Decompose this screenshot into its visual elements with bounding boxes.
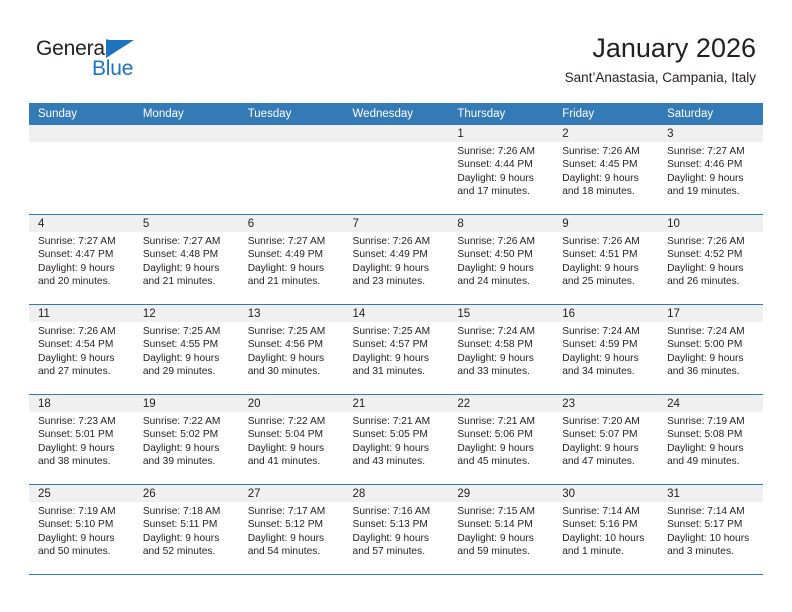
daylight-duration-line2: and 20 minutes. [38,275,128,288]
calendar-cell-day[interactable]: 11Sunrise: 7:26 AMSunset: 4:54 PMDayligh… [29,305,134,395]
day-number: 22 [448,395,553,412]
sunset-time: Sunset: 5:14 PM [457,518,547,531]
day-box: 13Sunrise: 7:25 AMSunset: 4:56 PMDayligh… [239,305,344,394]
daylight-duration-line1: Daylight: 9 hours [667,262,757,275]
day-number: 12 [134,305,239,322]
day-number: 27 [239,485,344,502]
calendar-cell-day[interactable]: 14Sunrise: 7:25 AMSunset: 4:57 PMDayligh… [344,305,449,395]
day-box: 4Sunrise: 7:27 AMSunset: 4:47 PMDaylight… [29,215,134,304]
day-box: 22Sunrise: 7:21 AMSunset: 5:06 PMDayligh… [448,395,553,484]
sunset-time: Sunset: 4:57 PM [353,338,443,351]
day-box: 6Sunrise: 7:27 AMSunset: 4:49 PMDaylight… [239,215,344,304]
day-box: 27Sunrise: 7:17 AMSunset: 5:12 PMDayligh… [239,485,344,574]
day-details: Sunrise: 7:25 AMSunset: 4:57 PMDaylight:… [344,322,449,378]
weekday-header-tuesday: Tuesday [239,103,344,125]
sunrise-time: Sunrise: 7:21 AM [353,415,443,428]
calendar-cell-day[interactable]: 4Sunrise: 7:27 AMSunset: 4:47 PMDaylight… [29,215,134,305]
day-number: 28 [344,485,449,502]
daylight-duration-line1: Daylight: 9 hours [38,352,128,365]
sunrise-time: Sunrise: 7:26 AM [353,235,443,248]
sunrise-time: Sunrise: 7:20 AM [562,415,652,428]
sunset-time: Sunset: 5:13 PM [353,518,443,531]
daylight-duration-line2: and 41 minutes. [248,455,338,468]
sunrise-time: Sunrise: 7:22 AM [143,415,233,428]
sunrise-time: Sunrise: 7:26 AM [38,325,128,338]
calendar-cell-day[interactable]: 9Sunrise: 7:26 AMSunset: 4:51 PMDaylight… [553,215,658,305]
calendar-cell-day[interactable]: 2Sunrise: 7:26 AMSunset: 4:45 PMDaylight… [553,125,658,215]
day-box: 19Sunrise: 7:22 AMSunset: 5:02 PMDayligh… [134,395,239,484]
day-box: 10Sunrise: 7:26 AMSunset: 4:52 PMDayligh… [658,215,763,304]
weekday-header-wednesday: Wednesday [344,103,449,125]
daylight-duration-line2: and 36 minutes. [667,365,757,378]
calendar-cell-day[interactable]: 3Sunrise: 7:27 AMSunset: 4:46 PMDaylight… [658,125,763,215]
day-details: Sunrise: 7:25 AMSunset: 4:56 PMDaylight:… [239,322,344,378]
daylight-duration-line2: and 23 minutes. [353,275,443,288]
day-box: 8Sunrise: 7:26 AMSunset: 4:50 PMDaylight… [448,215,553,304]
sunrise-time: Sunrise: 7:23 AM [38,415,128,428]
sunset-time: Sunset: 5:10 PM [38,518,128,531]
day-box: 24Sunrise: 7:19 AMSunset: 5:08 PMDayligh… [658,395,763,484]
sunrise-time: Sunrise: 7:24 AM [562,325,652,338]
day-details: Sunrise: 7:27 AMSunset: 4:49 PMDaylight:… [239,232,344,288]
day-number: 4 [29,215,134,232]
day-box: 20Sunrise: 7:22 AMSunset: 5:04 PMDayligh… [239,395,344,484]
daylight-duration-line2: and 27 minutes. [38,365,128,378]
sunrise-time: Sunrise: 7:19 AM [38,505,128,518]
daylight-duration-line2: and 25 minutes. [562,275,652,288]
sunrise-time: Sunrise: 7:24 AM [457,325,547,338]
title-block: January 2026 Sant’Anastasia, Campania, I… [565,32,756,87]
day-number [344,125,449,142]
sunset-time: Sunset: 5:01 PM [38,428,128,441]
sunrise-time: Sunrise: 7:22 AM [248,415,338,428]
calendar-cell-day[interactable]: 6Sunrise: 7:27 AMSunset: 4:49 PMDaylight… [239,215,344,305]
sunrise-time: Sunrise: 7:17 AM [248,505,338,518]
daylight-duration-line2: and 30 minutes. [248,365,338,378]
daylight-duration-line2: and 3 minutes. [667,545,757,558]
day-box: 30Sunrise: 7:14 AMSunset: 5:16 PMDayligh… [553,485,658,574]
day-number: 26 [134,485,239,502]
day-box: 3Sunrise: 7:27 AMSunset: 4:46 PMDaylight… [658,125,763,214]
day-number: 16 [553,305,658,322]
day-details: Sunrise: 7:24 AMSunset: 4:59 PMDaylight:… [553,322,658,378]
day-number: 24 [658,395,763,412]
daylight-duration-line2: and 49 minutes. [667,455,757,468]
day-number: 8 [448,215,553,232]
day-details: Sunrise: 7:26 AMSunset: 4:52 PMDaylight:… [658,232,763,288]
day-details: Sunrise: 7:18 AMSunset: 5:11 PMDaylight:… [134,502,239,558]
sunrise-time: Sunrise: 7:14 AM [562,505,652,518]
calendar-cell-day[interactable]: 19Sunrise: 7:22 AMSunset: 5:02 PMDayligh… [134,395,239,485]
day-details: Sunrise: 7:19 AMSunset: 5:10 PMDaylight:… [29,502,134,558]
daylight-duration-line2: and 38 minutes. [38,455,128,468]
calendar-cell-day[interactable]: 29Sunrise: 7:15 AMSunset: 5:14 PMDayligh… [448,485,553,575]
calendar-page: General Blue January 2026 Sant’Anastasia… [0,0,792,612]
daylight-duration-line1: Daylight: 9 hours [38,262,128,275]
weekday-header-friday: Friday [553,103,658,125]
day-details: Sunrise: 7:23 AMSunset: 5:01 PMDaylight:… [29,412,134,468]
daylight-duration-line1: Daylight: 9 hours [562,442,652,455]
sunset-time: Sunset: 5:00 PM [667,338,757,351]
day-number: 30 [553,485,658,502]
page-header: General Blue January 2026 Sant’Anastasia… [0,0,792,103]
calendar-header-row: Sunday Monday Tuesday Wednesday Thursday… [29,103,763,125]
day-box: 25Sunrise: 7:19 AMSunset: 5:10 PMDayligh… [29,485,134,574]
sunset-time: Sunset: 5:06 PM [457,428,547,441]
day-details: Sunrise: 7:27 AMSunset: 4:46 PMDaylight:… [658,142,763,198]
day-number: 1 [448,125,553,142]
day-box: 31Sunrise: 7:14 AMSunset: 5:17 PMDayligh… [658,485,763,574]
sunrise-time: Sunrise: 7:14 AM [667,505,757,518]
sunrise-time: Sunrise: 7:27 AM [143,235,233,248]
calendar-week-row: 1Sunrise: 7:26 AMSunset: 4:44 PMDaylight… [29,125,763,215]
sunset-time: Sunset: 4:55 PM [143,338,233,351]
calendar-body: 1Sunrise: 7:26 AMSunset: 4:44 PMDaylight… [29,125,763,575]
calendar-cell-day[interactable]: 12Sunrise: 7:25 AMSunset: 4:55 PMDayligh… [134,305,239,395]
sunrise-time: Sunrise: 7:26 AM [457,235,547,248]
day-details: Sunrise: 7:24 AMSunset: 4:58 PMDaylight:… [448,322,553,378]
sunset-time: Sunset: 5:11 PM [143,518,233,531]
day-details: Sunrise: 7:21 AMSunset: 5:05 PMDaylight:… [344,412,449,468]
calendar-week-row: 11Sunrise: 7:26 AMSunset: 4:54 PMDayligh… [29,305,763,395]
daylight-duration-line1: Daylight: 9 hours [353,262,443,275]
weekday-header-saturday: Saturday [658,103,763,125]
calendar-grid: Sunday Monday Tuesday Wednesday Thursday… [29,103,763,575]
day-number: 23 [553,395,658,412]
sunset-time: Sunset: 4:45 PM [562,158,652,171]
day-box: 15Sunrise: 7:24 AMSunset: 4:58 PMDayligh… [448,305,553,394]
daylight-duration-line2: and 57 minutes. [353,545,443,558]
daylight-duration-line1: Daylight: 9 hours [248,352,338,365]
calendar-cell-day[interactable]: 31Sunrise: 7:14 AMSunset: 5:17 PMDayligh… [658,485,763,575]
sunset-time: Sunset: 4:49 PM [353,248,443,261]
daylight-duration-line2: and 50 minutes. [38,545,128,558]
sunset-time: Sunset: 4:54 PM [38,338,128,351]
calendar-cell-day[interactable]: 15Sunrise: 7:24 AMSunset: 4:58 PMDayligh… [448,305,553,395]
day-number: 3 [658,125,763,142]
daylight-duration-line2: and 29 minutes. [143,365,233,378]
calendar-cell-day[interactable]: 28Sunrise: 7:16 AMSunset: 5:13 PMDayligh… [344,485,449,575]
calendar-cell-empty [239,125,344,215]
day-number: 18 [29,395,134,412]
day-number: 20 [239,395,344,412]
sunset-time: Sunset: 5:05 PM [353,428,443,441]
daylight-duration-line1: Daylight: 9 hours [143,442,233,455]
day-number: 29 [448,485,553,502]
day-number: 10 [658,215,763,232]
day-details: Sunrise: 7:19 AMSunset: 5:08 PMDaylight:… [658,412,763,468]
calendar-cell-day[interactable]: 13Sunrise: 7:25 AMSunset: 4:56 PMDayligh… [239,305,344,395]
sunset-time: Sunset: 4:44 PM [457,158,547,171]
calendar-cell-day[interactable]: 27Sunrise: 7:17 AMSunset: 5:12 PMDayligh… [239,485,344,575]
sunrise-time: Sunrise: 7:19 AM [667,415,757,428]
weekday-header-sunday: Sunday [29,103,134,125]
sunrise-time: Sunrise: 7:26 AM [667,235,757,248]
day-number: 21 [344,395,449,412]
daylight-duration-line2: and 1 minute. [562,545,652,558]
page-subtitle: Sant’Anastasia, Campania, Italy [565,69,756,87]
day-details: Sunrise: 7:27 AMSunset: 4:48 PMDaylight:… [134,232,239,288]
daylight-duration-line1: Daylight: 9 hours [562,172,652,185]
day-box: 12Sunrise: 7:25 AMSunset: 4:55 PMDayligh… [134,305,239,394]
calendar-cell-day[interactable]: 10Sunrise: 7:26 AMSunset: 4:52 PMDayligh… [658,215,763,305]
blue-triangle-icon [106,40,134,58]
daylight-duration-line1: Daylight: 10 hours [562,532,652,545]
day-number: 6 [239,215,344,232]
day-details: Sunrise: 7:22 AMSunset: 5:04 PMDaylight:… [239,412,344,468]
daylight-duration-line2: and 52 minutes. [143,545,233,558]
sunset-time: Sunset: 4:46 PM [667,158,757,171]
calendar-cell-day[interactable]: 7Sunrise: 7:26 AMSunset: 4:49 PMDaylight… [344,215,449,305]
daylight-duration-line1: Daylight: 9 hours [143,532,233,545]
daylight-duration-line2: and 39 minutes. [143,455,233,468]
daylight-duration-line1: Daylight: 9 hours [143,262,233,275]
sunrise-time: Sunrise: 7:21 AM [457,415,547,428]
day-box: 26Sunrise: 7:18 AMSunset: 5:11 PMDayligh… [134,485,239,574]
calendar-cell-day[interactable]: 26Sunrise: 7:18 AMSunset: 5:11 PMDayligh… [134,485,239,575]
calendar-cell-day[interactable]: 20Sunrise: 7:22 AMSunset: 5:04 PMDayligh… [239,395,344,485]
calendar-cell-day[interactable]: 24Sunrise: 7:19 AMSunset: 5:08 PMDayligh… [658,395,763,485]
day-box: 2Sunrise: 7:26 AMSunset: 4:45 PMDaylight… [553,125,658,214]
day-box: 16Sunrise: 7:24 AMSunset: 4:59 PMDayligh… [553,305,658,394]
sunrise-time: Sunrise: 7:27 AM [38,235,128,248]
sunset-time: Sunset: 4:58 PM [457,338,547,351]
day-details: Sunrise: 7:26 AMSunset: 4:45 PMDaylight:… [553,142,658,198]
day-number: 9 [553,215,658,232]
day-number [134,125,239,142]
sunset-time: Sunset: 4:52 PM [667,248,757,261]
day-box [29,125,134,214]
day-number: 19 [134,395,239,412]
daylight-duration-line1: Daylight: 9 hours [667,352,757,365]
daylight-duration-line1: Daylight: 9 hours [353,442,443,455]
sunrise-time: Sunrise: 7:16 AM [353,505,443,518]
day-box: 9Sunrise: 7:26 AMSunset: 4:51 PMDaylight… [553,215,658,304]
day-number: 2 [553,125,658,142]
sunset-time: Sunset: 5:04 PM [248,428,338,441]
calendar-cell-day[interactable]: 22Sunrise: 7:21 AMSunset: 5:06 PMDayligh… [448,395,553,485]
day-box: 21Sunrise: 7:21 AMSunset: 5:05 PMDayligh… [344,395,449,484]
day-details: Sunrise: 7:26 AMSunset: 4:49 PMDaylight:… [344,232,449,288]
calendar-cell-day[interactable]: 18Sunrise: 7:23 AMSunset: 5:01 PMDayligh… [29,395,134,485]
calendar-cell-empty [29,125,134,215]
sunrise-time: Sunrise: 7:26 AM [457,145,547,158]
day-details: Sunrise: 7:21 AMSunset: 5:06 PMDaylight:… [448,412,553,468]
sunset-time: Sunset: 4:50 PM [457,248,547,261]
daylight-duration-line1: Daylight: 9 hours [562,352,652,365]
sunset-time: Sunset: 4:59 PM [562,338,652,351]
day-number: 15 [448,305,553,322]
sunrise-time: Sunrise: 7:18 AM [143,505,233,518]
day-number: 14 [344,305,449,322]
sunrise-time: Sunrise: 7:25 AM [353,325,443,338]
day-details: Sunrise: 7:25 AMSunset: 4:55 PMDaylight:… [134,322,239,378]
day-details: Sunrise: 7:16 AMSunset: 5:13 PMDaylight:… [344,502,449,558]
day-number: 31 [658,485,763,502]
calendar-cell-day[interactable]: 8Sunrise: 7:26 AMSunset: 4:50 PMDaylight… [448,215,553,305]
daylight-duration-line2: and 26 minutes. [667,275,757,288]
calendar-cell-day[interactable]: 17Sunrise: 7:24 AMSunset: 5:00 PMDayligh… [658,305,763,395]
day-details: Sunrise: 7:14 AMSunset: 5:17 PMDaylight:… [658,502,763,558]
daylight-duration-line1: Daylight: 9 hours [248,262,338,275]
calendar-cell-day[interactable]: 16Sunrise: 7:24 AMSunset: 4:59 PMDayligh… [553,305,658,395]
sunset-time: Sunset: 5:16 PM [562,518,652,531]
general-blue-logo[interactable]: General Blue [36,37,166,85]
daylight-duration-line2: and 47 minutes. [562,455,652,468]
sunrise-time: Sunrise: 7:25 AM [248,325,338,338]
day-box: 5Sunrise: 7:27 AMSunset: 4:48 PMDaylight… [134,215,239,304]
day-box: 11Sunrise: 7:26 AMSunset: 4:54 PMDayligh… [29,305,134,394]
day-number: 11 [29,305,134,322]
calendar-cell-day[interactable]: 1Sunrise: 7:26 AMSunset: 4:44 PMDaylight… [448,125,553,215]
daylight-duration-line1: Daylight: 9 hours [457,172,547,185]
day-details: Sunrise: 7:24 AMSunset: 5:00 PMDaylight:… [658,322,763,378]
daylight-duration-line1: Daylight: 9 hours [248,442,338,455]
daylight-duration-line2: and 24 minutes. [457,275,547,288]
daylight-duration-line2: and 17 minutes. [457,185,547,198]
sunrise-time: Sunrise: 7:26 AM [562,235,652,248]
logo-text-blue: Blue [92,57,133,81]
daylight-duration-line2: and 59 minutes. [457,545,547,558]
day-box [239,125,344,214]
day-box [344,125,449,214]
day-box: 1Sunrise: 7:26 AMSunset: 4:44 PMDaylight… [448,125,553,214]
weekday-header-thursday: Thursday [448,103,553,125]
daylight-duration-line1: Daylight: 9 hours [457,532,547,545]
daylight-duration-line1: Daylight: 9 hours [457,262,547,275]
daylight-duration-line1: Daylight: 9 hours [143,352,233,365]
calendar-cell-day[interactable]: 21Sunrise: 7:21 AMSunset: 5:05 PMDayligh… [344,395,449,485]
day-details: Sunrise: 7:26 AMSunset: 4:51 PMDaylight:… [553,232,658,288]
sunrise-time: Sunrise: 7:15 AM [457,505,547,518]
daylight-duration-line1: Daylight: 9 hours [38,532,128,545]
day-details: Sunrise: 7:14 AMSunset: 5:16 PMDaylight:… [553,502,658,558]
daylight-duration-line2: and 21 minutes. [143,275,233,288]
day-box: 7Sunrise: 7:26 AMSunset: 4:49 PMDaylight… [344,215,449,304]
page-title: January 2026 [565,32,756,64]
sunset-time: Sunset: 4:49 PM [248,248,338,261]
daylight-duration-line2: and 45 minutes. [457,455,547,468]
day-number: 5 [134,215,239,232]
daylight-duration-line2: and 54 minutes. [248,545,338,558]
daylight-duration-line2: and 43 minutes. [353,455,443,468]
daylight-duration-line2: and 34 minutes. [562,365,652,378]
calendar-cell-day[interactable]: 30Sunrise: 7:14 AMSunset: 5:16 PMDayligh… [553,485,658,575]
sunrise-time: Sunrise: 7:25 AM [143,325,233,338]
daylight-duration-line2: and 33 minutes. [457,365,547,378]
day-details: Sunrise: 7:26 AMSunset: 4:50 PMDaylight:… [448,232,553,288]
day-details: Sunrise: 7:17 AMSunset: 5:12 PMDaylight:… [239,502,344,558]
sunrise-time: Sunrise: 7:27 AM [667,145,757,158]
calendar-week-row: 18Sunrise: 7:23 AMSunset: 5:01 PMDayligh… [29,395,763,485]
daylight-duration-line1: Daylight: 9 hours [457,352,547,365]
sunrise-time: Sunrise: 7:24 AM [667,325,757,338]
day-number [239,125,344,142]
sunset-time: Sunset: 5:08 PM [667,428,757,441]
sunset-time: Sunset: 5:02 PM [143,428,233,441]
day-details: Sunrise: 7:22 AMSunset: 5:02 PMDaylight:… [134,412,239,468]
calendar-cell-day[interactable]: 23Sunrise: 7:20 AMSunset: 5:07 PMDayligh… [553,395,658,485]
daylight-duration-line2: and 31 minutes. [353,365,443,378]
calendar-week-row: 25Sunrise: 7:19 AMSunset: 5:10 PMDayligh… [29,485,763,575]
day-details: Sunrise: 7:27 AMSunset: 4:47 PMDaylight:… [29,232,134,288]
day-details: Sunrise: 7:15 AMSunset: 5:14 PMDaylight:… [448,502,553,558]
sunset-time: Sunset: 4:47 PM [38,248,128,261]
daylight-duration-line1: Daylight: 9 hours [562,262,652,275]
daylight-duration-line1: Daylight: 9 hours [353,352,443,365]
sunset-time: Sunset: 5:17 PM [667,518,757,531]
day-box: 23Sunrise: 7:20 AMSunset: 5:07 PMDayligh… [553,395,658,484]
day-number: 17 [658,305,763,322]
daylight-duration-line1: Daylight: 9 hours [248,532,338,545]
sunset-time: Sunset: 4:51 PM [562,248,652,261]
daylight-duration-line1: Daylight: 9 hours [457,442,547,455]
sunset-time: Sunset: 5:12 PM [248,518,338,531]
day-box: 17Sunrise: 7:24 AMSunset: 5:00 PMDayligh… [658,305,763,394]
daylight-duration-line1: Daylight: 9 hours [667,442,757,455]
day-box: 14Sunrise: 7:25 AMSunset: 4:57 PMDayligh… [344,305,449,394]
daylight-duration-line1: Daylight: 10 hours [667,532,757,545]
sunrise-time: Sunrise: 7:26 AM [562,145,652,158]
calendar-cell-empty [344,125,449,215]
sunrise-time: Sunrise: 7:27 AM [248,235,338,248]
daylight-duration-line2: and 18 minutes. [562,185,652,198]
calendar-cell-empty [134,125,239,215]
calendar-week-row: 4Sunrise: 7:27 AMSunset: 4:47 PMDaylight… [29,215,763,305]
daylight-duration-line1: Daylight: 9 hours [667,172,757,185]
day-details: Sunrise: 7:20 AMSunset: 5:07 PMDaylight:… [553,412,658,468]
sunset-time: Sunset: 5:07 PM [562,428,652,441]
day-number: 25 [29,485,134,502]
sunset-time: Sunset: 4:56 PM [248,338,338,351]
daylight-duration-line2: and 19 minutes. [667,185,757,198]
daylight-duration-line1: Daylight: 9 hours [353,532,443,545]
day-box: 18Sunrise: 7:23 AMSunset: 5:01 PMDayligh… [29,395,134,484]
day-number [29,125,134,142]
day-number: 13 [239,305,344,322]
calendar-cell-day[interactable]: 5Sunrise: 7:27 AMSunset: 4:48 PMDaylight… [134,215,239,305]
daylight-duration-line1: Daylight: 9 hours [38,442,128,455]
weekday-header-monday: Monday [134,103,239,125]
day-box: 29Sunrise: 7:15 AMSunset: 5:14 PMDayligh… [448,485,553,574]
day-box [134,125,239,214]
day-number: 7 [344,215,449,232]
day-details: Sunrise: 7:26 AMSunset: 4:54 PMDaylight:… [29,322,134,378]
day-box: 28Sunrise: 7:16 AMSunset: 5:13 PMDayligh… [344,485,449,574]
day-details: Sunrise: 7:26 AMSunset: 4:44 PMDaylight:… [448,142,553,198]
sunset-time: Sunset: 4:48 PM [143,248,233,261]
calendar-cell-day[interactable]: 25Sunrise: 7:19 AMSunset: 5:10 PMDayligh… [29,485,134,575]
daylight-duration-line2: and 21 minutes. [248,275,338,288]
